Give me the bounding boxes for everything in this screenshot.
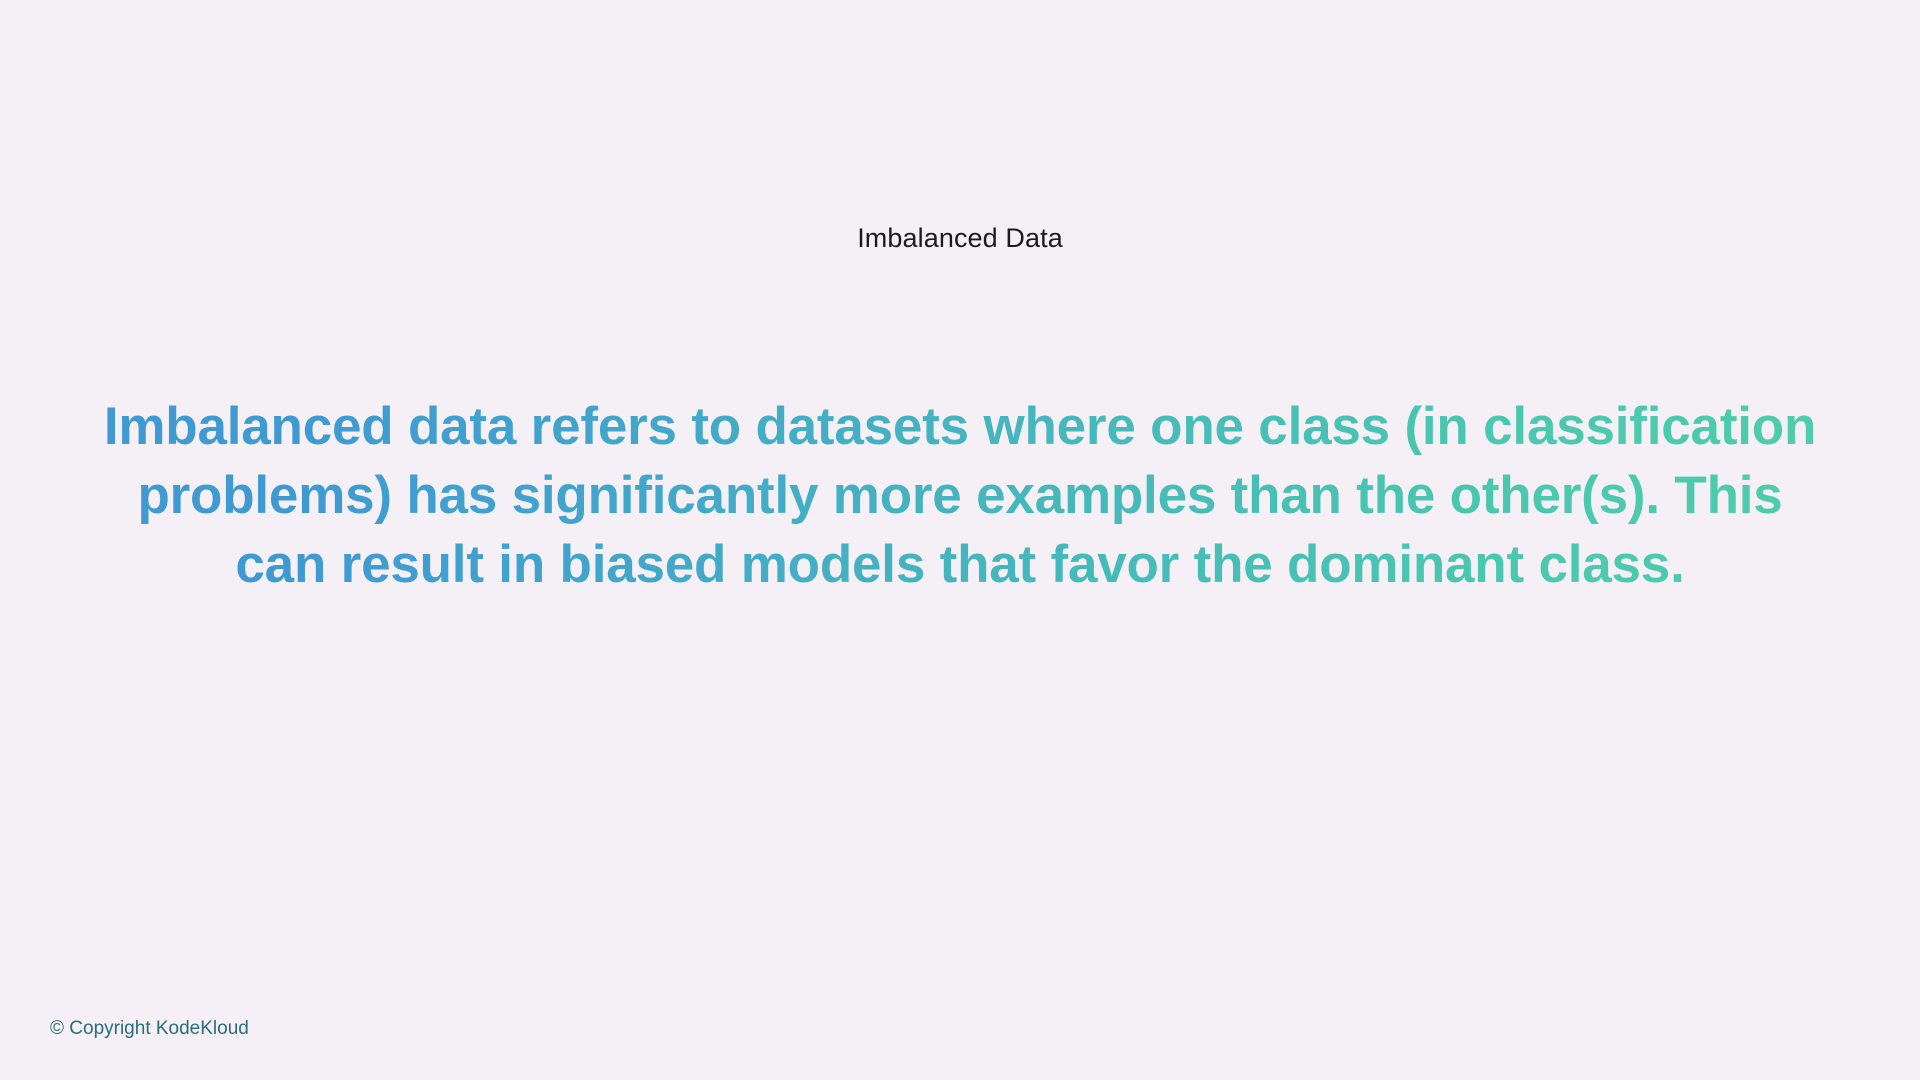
- slide-canvas: Imbalanced Data Imbalanced data refers t…: [0, 0, 1920, 1080]
- footer-copyright: © Copyright KodeKloud: [50, 1018, 249, 1041]
- statement-block: Imbalanced data refers to datasets where…: [100, 392, 1820, 599]
- statement-text: Imbalanced data refers to datasets where…: [100, 392, 1820, 599]
- page-title: Imbalanced Data: [0, 222, 1920, 254]
